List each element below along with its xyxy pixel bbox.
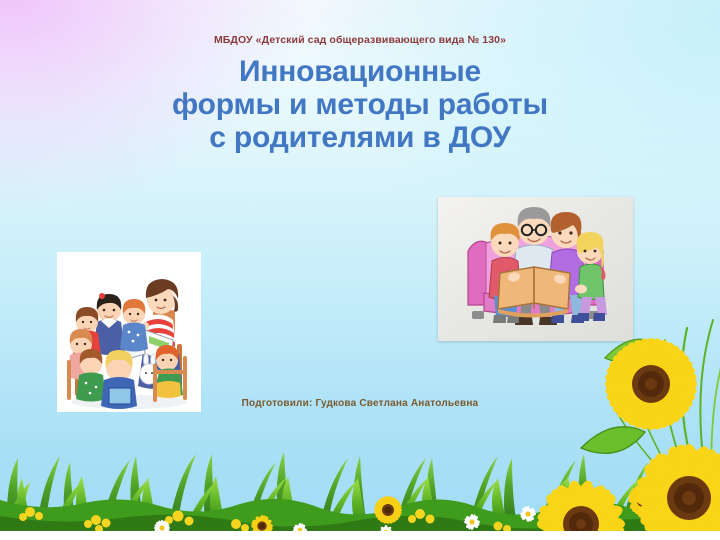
title-line-1: Инновационные [0,55,720,88]
bottom-white-strip [0,531,720,540]
slide-title: Инновационные формы и методы работы с ро… [0,55,720,154]
kindergarten-teacher-reading-to-children-image [57,252,201,412]
author-credit: Подготовили: Гудкова Светлана Анатольевн… [0,398,720,409]
presentation-slide: МБДОУ «Детский сад общеразвивающего вида… [0,0,720,540]
title-line-2: формы и методы работы [0,88,720,121]
family-reading-on-couch-image [438,197,633,341]
organization-line: МБДОУ «Детский сад общеразвивающего вида… [0,34,720,46]
title-line-3: с родителями в ДОУ [0,121,720,154]
